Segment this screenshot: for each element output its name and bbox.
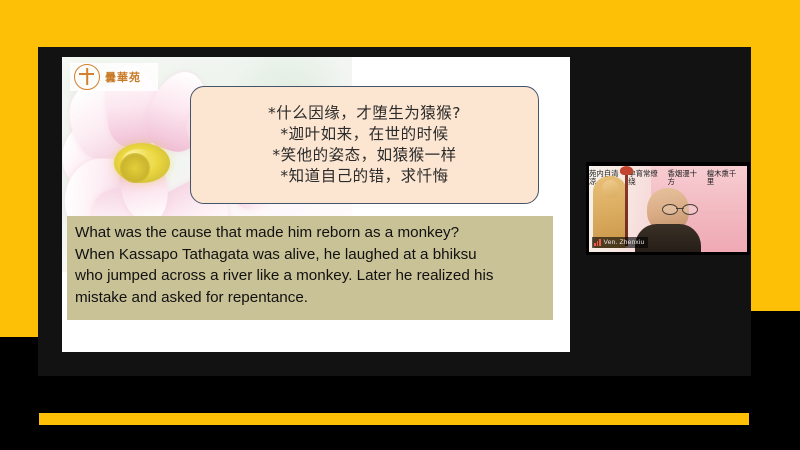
decor-yellow-top-band xyxy=(38,0,800,47)
chinese-callout-line: *笑他的姿态，如猿猴一样 xyxy=(272,146,456,165)
organization-logo: 曇華苑 xyxy=(70,63,158,91)
chinese-callout-line: *迦叶如来，在世的时候 xyxy=(280,125,448,144)
temple-seal-icon xyxy=(74,64,100,90)
chinese-callout-line: *知道自己的错，求忏悔 xyxy=(280,167,448,186)
participant-video-tile[interactable]: 檀木熏千里 香烟漫十方 孕育常缭绕 苑内自清凉 xyxy=(586,162,750,255)
english-translation-line: When Kassapo Tathagata was alive, he lau… xyxy=(75,244,545,266)
eyeglass-lens-right xyxy=(682,204,698,215)
organization-logo-text: 曇華苑 xyxy=(105,69,141,85)
eyeglass-lens-left xyxy=(662,204,678,215)
screen-root: 曇華苑 *什么因缘，才堕生为猿猴? *迦叶如来，在世的时候 *笑他的姿态，如猿猴… xyxy=(0,0,800,450)
microphone-active-icon xyxy=(594,239,601,246)
ritual-staff xyxy=(625,168,628,246)
shared-slide: 曇華苑 *什么因缘，才堕生为猿猴? *迦叶如来，在世的时候 *笑他的姿态，如猿猴… xyxy=(62,57,570,352)
eyeglasses-icon xyxy=(662,204,698,213)
chinese-callout-box: *什么因缘，才堕生为猿猴? *迦叶如来，在世的时候 *笑他的姿态，如猿猴一样 *… xyxy=(190,86,539,204)
decor-yellow-right-band xyxy=(751,47,800,311)
calligraphy-column: 檀木熏千里 xyxy=(707,170,743,187)
chinese-callout-line: *什么因缘，才堕生为猿猴? xyxy=(268,104,461,123)
english-translation-block: What was the cause that made him reborn … xyxy=(67,216,553,320)
participant-name-label: Ven. Zhenxiu xyxy=(604,239,645,246)
calligraphy-column: 香烟漫十方 xyxy=(668,170,704,187)
ritual-staff-finial xyxy=(620,166,633,175)
english-translation-line: mistake and asked for repentance. xyxy=(75,287,545,309)
decor-yellow-left-band xyxy=(0,0,38,337)
calligraphy-column: 孕育常缭绕 xyxy=(628,170,664,187)
buddha-statue-head xyxy=(602,180,619,198)
participant-video-feed: 檀木熏千里 香烟漫十方 孕育常缭绕 苑内自清凉 xyxy=(589,166,747,252)
decor-yellow-bottom-bar xyxy=(39,413,749,425)
english-translation-line: What was the cause that made him reborn … xyxy=(75,222,545,244)
participant-name-tag: Ven. Zhenxiu xyxy=(592,237,648,248)
english-translation-line: who jumped across a river like a monkey.… xyxy=(75,265,545,287)
lotus-stamen xyxy=(120,153,150,183)
